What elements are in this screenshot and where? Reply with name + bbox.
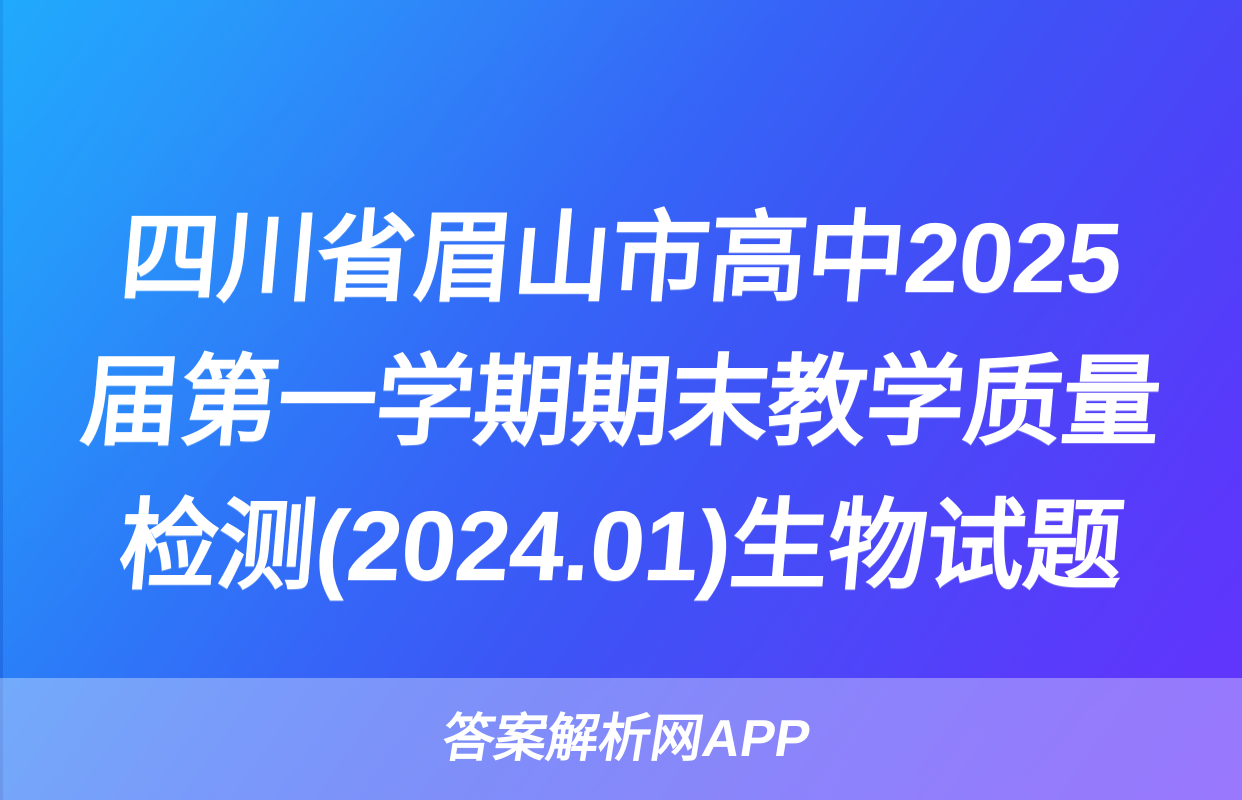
watermark-brand-label: 答案解析网APP <box>428 713 813 765</box>
page-title: 四川省眉山市高中2025 届第一学期期末教学质量 检测(2024.01)生物试题 <box>0 186 1242 618</box>
title-line-2: 届第一学期期末教学质量 <box>54 330 1189 474</box>
watermark-band: 答案解析网APP <box>0 678 1242 800</box>
title-line-3: 检测(2024.01)生物试题 <box>54 474 1189 618</box>
title-line-1: 四川省眉山市高中2025 <box>54 186 1189 330</box>
exam-cover-card: 四川省眉山市高中2025 届第一学期期末教学质量 检测(2024.01)生物试题… <box>0 0 1242 800</box>
